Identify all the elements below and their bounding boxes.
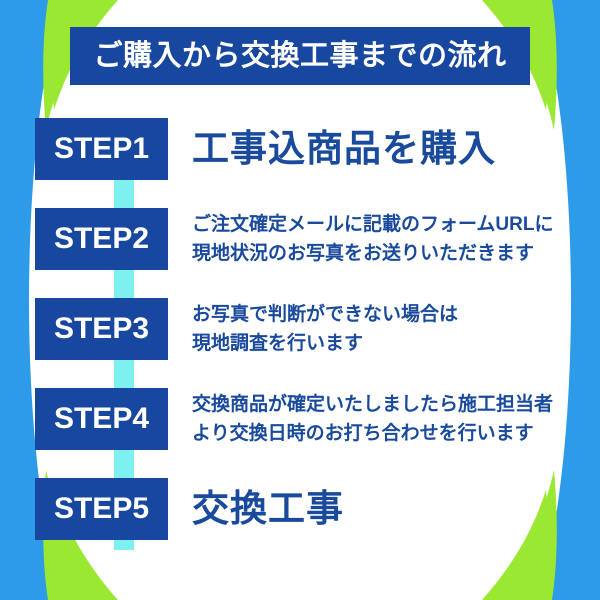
step-badge-5: STEP5	[35, 478, 168, 540]
step-row: STEP1 工事込商品を購入	[0, 118, 600, 180]
infographic-canvas: ご購入から交換工事までの流れ STEP1 工事込商品を購入 STEP2 ご注文確…	[0, 0, 600, 600]
step-badge-label: STEP4	[54, 404, 149, 434]
step-badge-3: STEP3	[35, 298, 168, 360]
step-description-3: お写真で判断ができない場合は 現地調査を行います	[192, 300, 600, 359]
step-description-4: 交換商品が確定いたしましたら施工担当者 より交換日時のお打ち合わせを行います	[192, 390, 600, 449]
page-title: ご購入から交換工事までの流れ	[93, 42, 506, 71]
step-badge-label: STEP3	[54, 314, 149, 344]
step-description-line: 交換商品が確定いたしましたら施工担当者	[192, 390, 600, 419]
steps-list: STEP1 工事込商品を購入 STEP2 ご注文確定メールに記載のフォームURL…	[0, 118, 600, 540]
step-description-line: ご注文確定メールに記載のフォームURLに	[192, 210, 600, 239]
step-badge-1: STEP1	[35, 118, 168, 180]
step-description-line: 工事込商品を購入	[192, 130, 600, 169]
step-row: STEP4 交換商品が確定いたしましたら施工担当者 より交換日時のお打ち合わせを…	[0, 388, 600, 450]
step-description-1: 工事込商品を購入	[192, 130, 600, 169]
header-banner: ご購入から交換工事までの流れ	[70, 27, 530, 85]
step-row: STEP5 交換工事	[0, 478, 600, 540]
step-badge-label: STEP5	[54, 494, 149, 524]
step-description-line: 交換工事	[192, 490, 600, 529]
step-badge-label: STEP1	[54, 134, 149, 164]
step-badge-label: STEP2	[54, 224, 149, 254]
step-badge-2: STEP2	[35, 208, 168, 270]
step-row: STEP2 ご注文確定メールに記載のフォームURLに 現地状況のお写真をお送りい…	[0, 208, 600, 270]
step-row: STEP3 お写真で判断ができない場合は 現地調査を行います	[0, 298, 600, 360]
step-description-line: お写真で判断ができない場合は	[192, 300, 600, 329]
step-description-line: 現地調査を行います	[192, 329, 600, 358]
step-description-2: ご注文確定メールに記載のフォームURLに 現地状況のお写真をお送りいただきます	[192, 210, 600, 269]
step-description-5: 交換工事	[192, 490, 600, 529]
step-description-line: 現地状況のお写真をお送りいただきます	[192, 239, 600, 268]
step-badge-4: STEP4	[35, 388, 168, 450]
step-description-line: より交換日時のお打ち合わせを行います	[192, 419, 600, 448]
